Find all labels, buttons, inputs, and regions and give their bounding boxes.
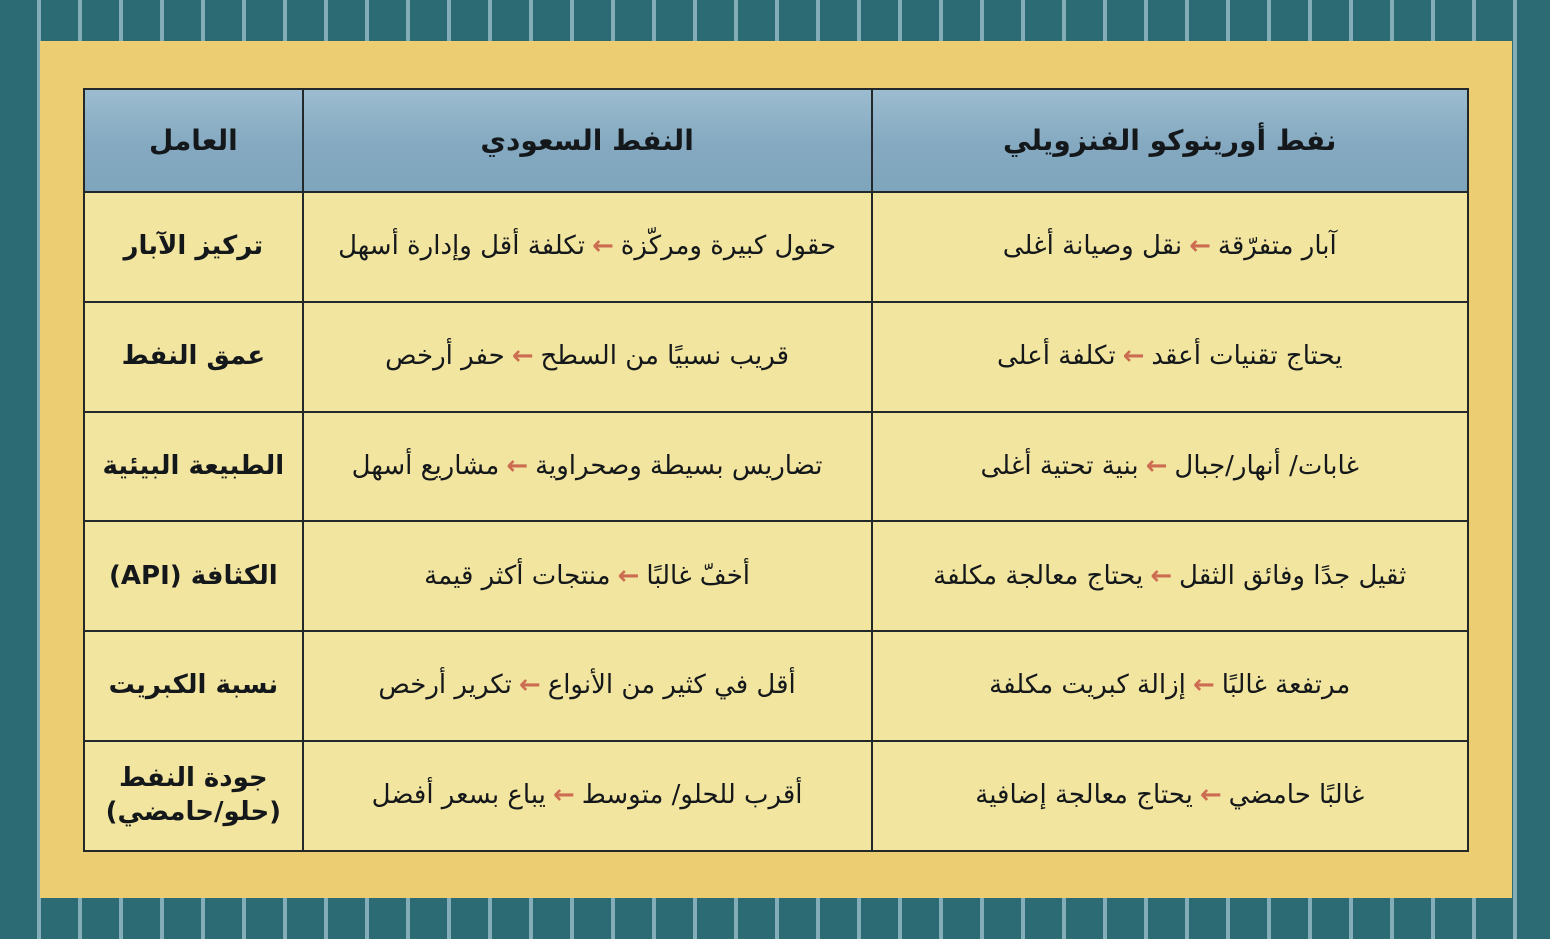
cell-saudi: أقرب للحلو/ متوسط←يباع بسعر أفضل: [303, 741, 872, 851]
effect-text: تكلفة أقل وإدارة أسهل: [338, 231, 585, 261]
cell-factor: الكثافة (API): [84, 521, 303, 631]
cause-text: حقول كبيرة ومركّزة: [621, 231, 836, 261]
cause-text: ثقيل جدًا وفائق الثقل: [1179, 561, 1406, 591]
cause-text: يحتاج تقنيات أعقد: [1151, 341, 1342, 371]
cause-text: غابات/ أنهار/جبال: [1174, 451, 1359, 481]
effect-text: يحتاج معالجة مكلفة: [933, 561, 1143, 591]
arrow-left-icon: ←: [1139, 450, 1175, 484]
cell-factor: عمق النفط: [84, 302, 303, 412]
cell-venezuela: غابات/ أنهار/جبال←بنية تحتية أغلى: [872, 412, 1469, 522]
arrow-left-icon: ←: [512, 669, 548, 703]
table-row: غالبًا حامضي←يحتاج معالجة إضافية أقرب لل…: [84, 741, 1468, 851]
effect-text: حفر أرخص: [385, 341, 505, 371]
effect-text: تكلفة أعلى: [997, 341, 1116, 371]
column-header-saudi: النفط السعودي: [303, 89, 872, 192]
content-panel: نفط أورينوكو الفنزويلي النفط السعودي الع…: [40, 41, 1512, 898]
table-row: ثقيل جدًا وفائق الثقل←يحتاج معالجة مكلفة…: [84, 521, 1468, 631]
cause-text: غالبًا حامضي: [1229, 780, 1365, 810]
table-body: آبار متفرّقة←نقل وصيانة أغلى حقول كبيرة …: [84, 192, 1468, 851]
cell-factor: نسبة الكبريت: [84, 631, 303, 741]
slide-canvas: نفط أورينوكو الفنزويلي النفط السعودي الع…: [0, 0, 1550, 939]
arrow-left-icon: ←: [1193, 779, 1229, 813]
arrow-left-icon: ←: [1182, 230, 1218, 264]
cell-venezuela: آبار متفرّقة←نقل وصيانة أغلى: [872, 192, 1469, 302]
cause-text: آبار متفرّقة: [1218, 231, 1337, 261]
cell-factor: جودة النفط (حلو/حامضي): [84, 741, 303, 851]
cause-text: مرتفعة غالبًا: [1222, 670, 1351, 700]
effect-text: نقل وصيانة أغلى: [1003, 231, 1182, 261]
header-row: نفط أورينوكو الفنزويلي النفط السعودي الع…: [84, 89, 1468, 192]
cell-saudi: أخفّ غالبًا←منتجات أكثر قيمة: [303, 521, 872, 631]
cell-saudi: قريب نسبيًا من السطح←حفر أرخص: [303, 302, 872, 412]
cause-text: قريب نسبيًا من السطح: [540, 341, 789, 371]
cell-saudi: أقل في كثير من الأنواع←تكرير أرخص: [303, 631, 872, 741]
cell-venezuela: يحتاج تقنيات أعقد←تكلفة أعلى: [872, 302, 1469, 412]
cell-venezuela: مرتفعة غالبًا←إزالة كبريت مكلفة: [872, 631, 1469, 741]
cause-text: أخفّ غالبًا: [646, 561, 750, 591]
cause-text: تضاريس بسيطة وصحراوية: [535, 451, 822, 481]
effect-text: يباع بسعر أفضل: [372, 780, 546, 810]
cell-venezuela: ثقيل جدًا وفائق الثقل←يحتاج معالجة مكلفة: [872, 521, 1469, 631]
effect-text: بنية تحتية أغلى: [980, 451, 1138, 481]
table-row: آبار متفرّقة←نقل وصيانة أغلى حقول كبيرة …: [84, 192, 1468, 302]
effect-text: يحتاج معالجة إضافية: [975, 780, 1193, 810]
arrow-left-icon: ←: [505, 340, 541, 374]
effect-text: إزالة كبريت مكلفة: [989, 670, 1186, 700]
effect-text: تكرير أرخص: [378, 670, 512, 700]
cause-text: أقل في كثير من الأنواع: [548, 670, 796, 700]
table-header: نفط أورينوكو الفنزويلي النفط السعودي الع…: [84, 89, 1468, 192]
comparison-table-wrapper: نفط أورينوكو الفنزويلي النفط السعودي الع…: [83, 88, 1469, 852]
effect-text: مشاريع أسهل: [352, 451, 500, 481]
cell-factor: تركيز الآبار: [84, 192, 303, 302]
cell-venezuela: غالبًا حامضي←يحتاج معالجة إضافية: [872, 741, 1469, 851]
cell-saudi: حقول كبيرة ومركّزة←تكلفة أقل وإدارة أسهل: [303, 192, 872, 302]
column-header-venezuela: نفط أورينوكو الفنزويلي: [872, 89, 1469, 192]
arrow-left-icon: ←: [611, 560, 647, 594]
table-row: مرتفعة غالبًا←إزالة كبريت مكلفة أقل في ك…: [84, 631, 1468, 741]
arrow-left-icon: ←: [585, 230, 621, 264]
cell-factor: الطبيعة البيئية: [84, 412, 303, 522]
table-row: غابات/ أنهار/جبال←بنية تحتية أغلى تضاريس…: [84, 412, 1468, 522]
effect-text: منتجات أكثر قيمة: [424, 561, 610, 591]
cell-saudi: تضاريس بسيطة وصحراوية←مشاريع أسهل: [303, 412, 872, 522]
cause-text: أقرب للحلو/ متوسط: [582, 780, 803, 810]
arrow-left-icon: ←: [546, 779, 582, 813]
arrow-left-icon: ←: [1116, 340, 1152, 374]
arrow-left-icon: ←: [499, 450, 535, 484]
column-header-factor: العامل: [84, 89, 303, 192]
arrow-left-icon: ←: [1186, 669, 1222, 703]
table-row: يحتاج تقنيات أعقد←تكلفة أعلى قريب نسبيًا…: [84, 302, 1468, 412]
arrow-left-icon: ←: [1143, 560, 1179, 594]
oil-comparison-table: نفط أورينوكو الفنزويلي النفط السعودي الع…: [83, 88, 1469, 852]
